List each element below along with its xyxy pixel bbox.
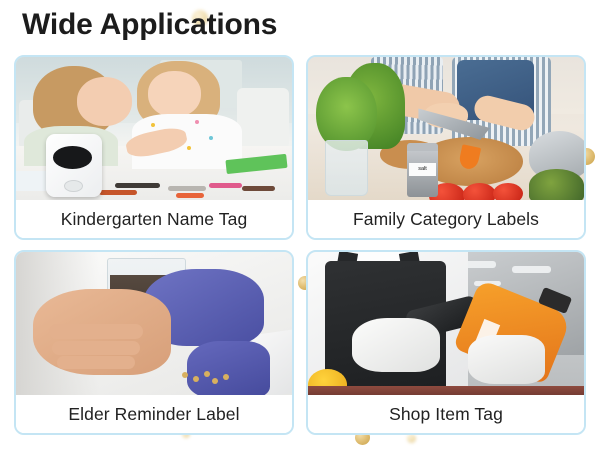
applications-grid: Kindergarten Name Tag bbox=[14, 55, 586, 435]
card-photo-shop-item bbox=[308, 252, 584, 395]
card-photo-kindergarten bbox=[16, 57, 292, 200]
page-title: Wide Applications bbox=[22, 8, 277, 42]
card-photo-elder-reminder bbox=[16, 252, 292, 395]
card-caption-shop-item: Shop Item Tag bbox=[308, 395, 584, 433]
card-caption-kindergarten: Kindergarten Name Tag bbox=[16, 200, 292, 238]
card-caption-family-category: Family Category Labels bbox=[308, 200, 584, 238]
application-card-family-category[interactable]: salt Family Category Labels bbox=[306, 55, 586, 240]
card-photo-family-category: salt bbox=[308, 57, 584, 200]
salt-jar-label: salt bbox=[409, 163, 437, 176]
gold-dot-bottom-right-icon bbox=[407, 434, 416, 443]
card-caption-elder-reminder: Elder Reminder Label bbox=[16, 395, 292, 433]
application-card-kindergarten[interactable]: Kindergarten Name Tag bbox=[14, 55, 294, 240]
application-card-shop-item[interactable]: Shop Item Tag bbox=[306, 250, 586, 435]
application-card-elder-reminder[interactable]: Elder Reminder Label bbox=[14, 250, 294, 435]
